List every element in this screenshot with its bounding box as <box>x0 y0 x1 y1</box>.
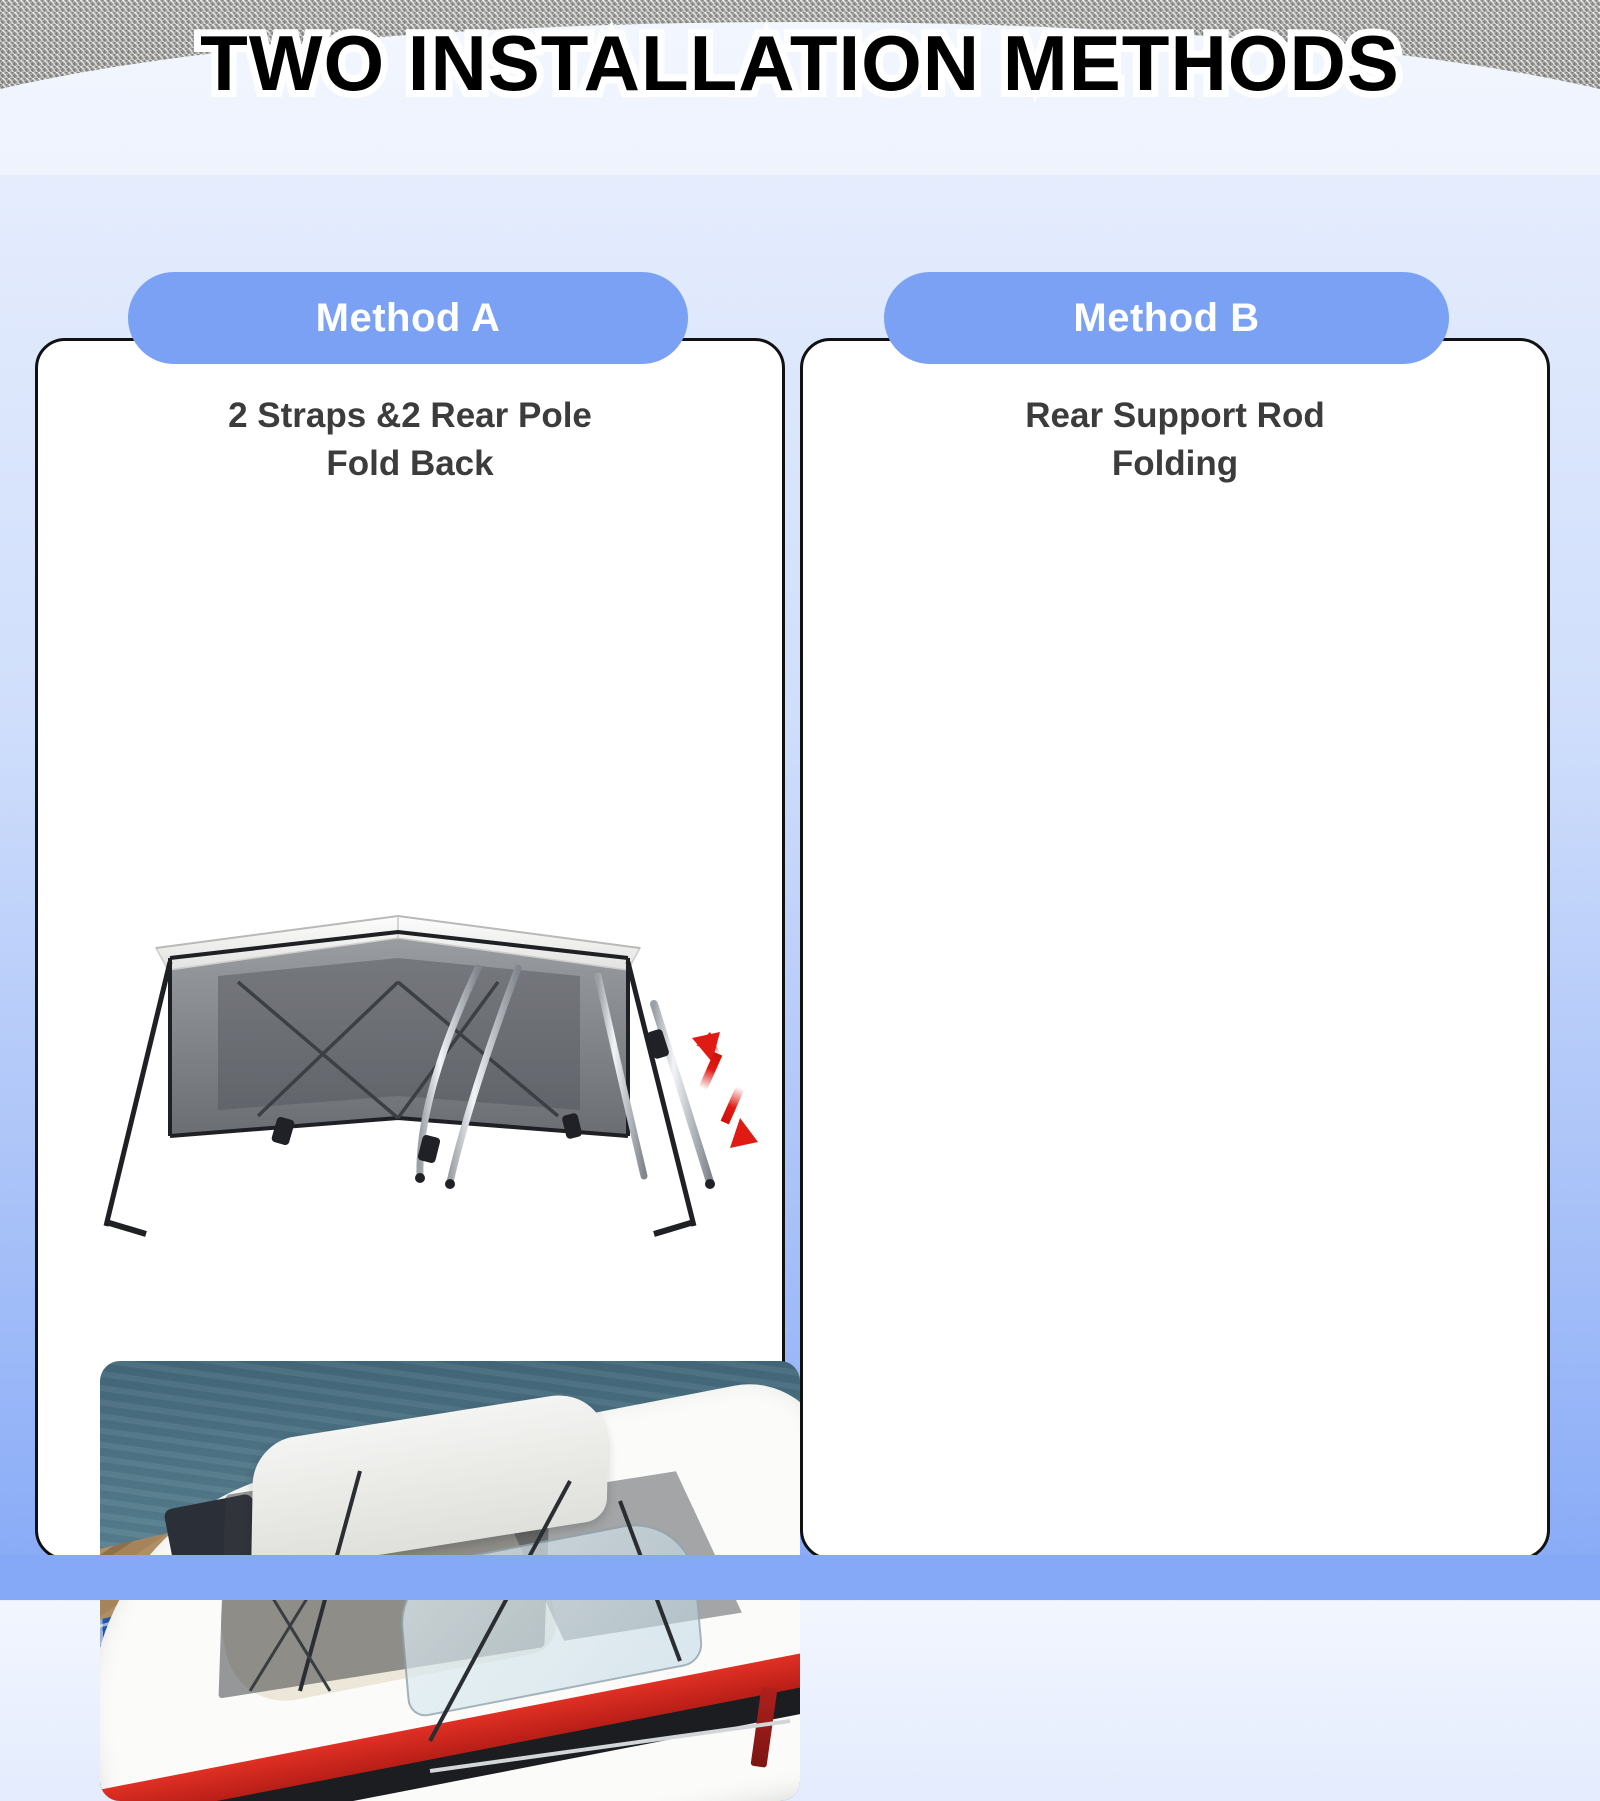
method-b-subtitle-line2: Folding <box>800 440 1550 488</box>
method-a-subtitle: 2 Straps &2 Rear Pole Fold Back <box>35 392 785 489</box>
method-a-badge[interactable]: Method A <box>128 272 688 364</box>
method-b-card <box>800 338 1550 1560</box>
methods-container <box>0 0 1600 1600</box>
double-headed-arrow <box>692 1032 758 1148</box>
method-b-subtitle-line1: Rear Support Rod <box>800 392 1550 440</box>
method-a-diagram <box>98 886 798 1286</box>
bottom-accent-band <box>0 1555 1600 1600</box>
method-a-subtitle-line1: 2 Straps &2 Rear Pole <box>35 392 785 440</box>
method-a-badge-label: Method A <box>316 296 501 341</box>
method-b-subtitle: Rear Support Rod Folding <box>800 392 1550 489</box>
method-b-badge-label: Method B <box>1073 296 1259 341</box>
method-a-subtitle-line2: Fold Back <box>35 440 785 488</box>
page-title: TWO INSTALLATION METHODS <box>0 18 1600 109</box>
method-a-card <box>35 338 785 1560</box>
method-b-badge[interactable]: Method B <box>884 272 1449 364</box>
